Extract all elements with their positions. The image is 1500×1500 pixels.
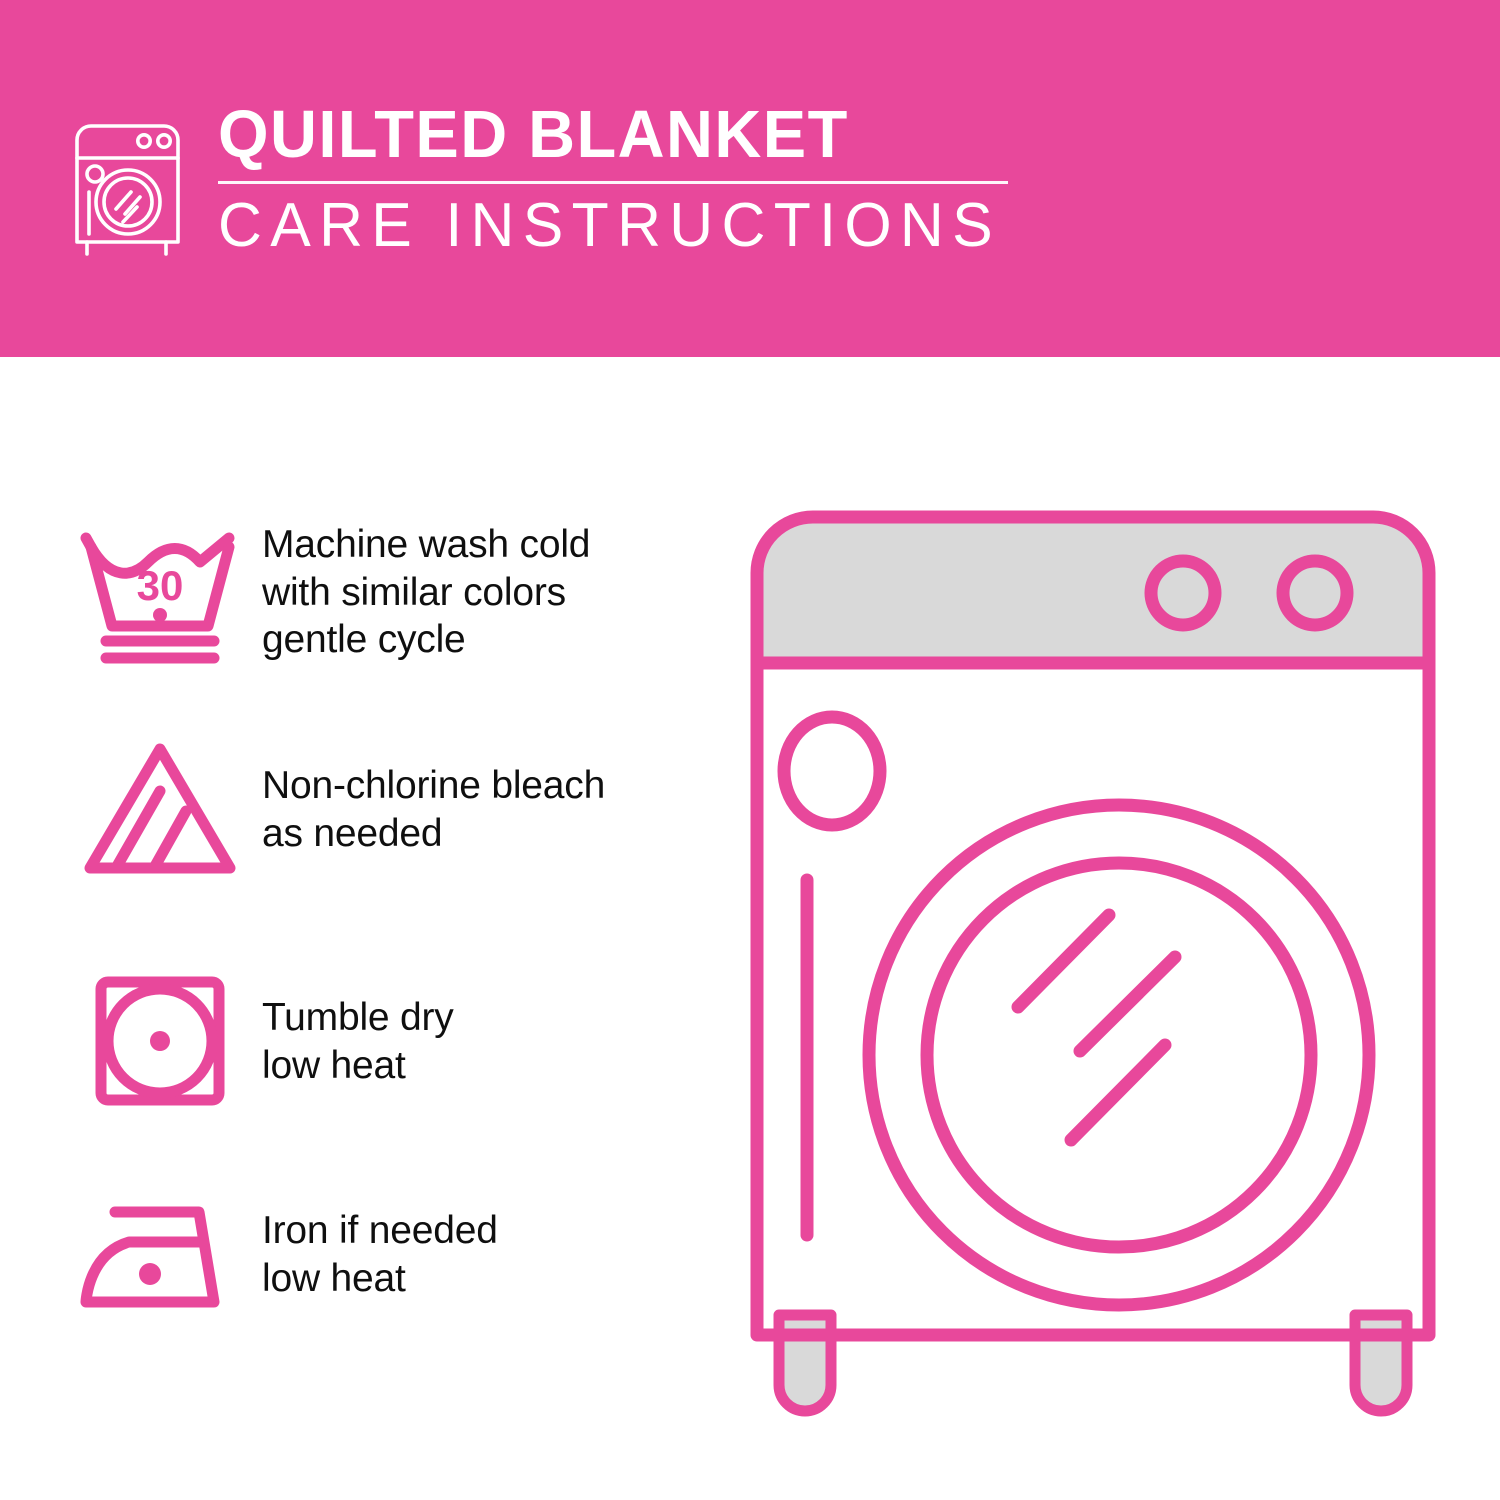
care-item-text: Tumble dry low heat (262, 994, 454, 1089)
care-item-text: Machine wash cold with similar colors ge… (262, 521, 590, 664)
care-item-machine-wash: 30 Machine wash cold with similar colors… (70, 505, 710, 680)
care-text-line: low heat (262, 1255, 498, 1303)
washer-control-panel (757, 517, 1429, 663)
non-chlorine-bleach-triangle-icon (74, 735, 246, 885)
care-text-line: Machine wash cold (262, 521, 590, 569)
care-text-line: as needed (262, 810, 605, 858)
washer-door-stripes (1018, 915, 1175, 1140)
washer-dispenser-icon (784, 717, 880, 825)
iron-low-heat-icon (74, 1190, 246, 1320)
washing-machine-icon (65, 110, 190, 270)
care-item-bleach: Non-chlorine bleach as needed (70, 727, 710, 892)
care-text-line: Tumble dry (262, 994, 454, 1042)
washer-door-inner-ring (927, 863, 1311, 1247)
care-symbol-slot (70, 735, 250, 885)
care-symbol-slot: 30 (70, 518, 250, 668)
tumble-dry-low-icon (74, 967, 246, 1117)
care-text-line: gentle cycle (262, 616, 590, 664)
wash-temperature-label: 30 (137, 562, 184, 609)
care-text-line: with similar colors (262, 569, 590, 617)
header-content: QUILTED BLANKET CARE INSTRUCTIONS (65, 100, 1017, 270)
care-instructions-infographic: QUILTED BLANKET CARE INSTRUCTIONS (0, 0, 1500, 1500)
title-divider (218, 181, 1008, 184)
header-title-group: QUILTED BLANKET CARE INSTRUCTIONS (218, 100, 1017, 258)
care-symbol-slot (70, 967, 250, 1117)
care-text-line: low heat (262, 1042, 454, 1090)
care-text-line: Non-chlorine bleach (262, 762, 605, 810)
page-subtitle: CARE INSTRUCTIONS (218, 193, 1001, 258)
care-text-line: Iron if needed (262, 1207, 498, 1255)
front-load-washing-machine-illustration (735, 495, 1455, 1425)
care-item-text: Non-chlorine bleach as needed (262, 762, 605, 857)
page-title: QUILTED BLANKET (218, 100, 993, 170)
wash-tub-30-gentle-icon: 30 (74, 518, 246, 668)
header-banner: QUILTED BLANKET CARE INSTRUCTIONS (0, 0, 1500, 357)
washer-door-outer-ring (869, 805, 1369, 1305)
care-symbol-slot (70, 1190, 250, 1320)
care-item-tumble-dry: Tumble dry low heat (70, 967, 710, 1117)
care-item-text: Iron if needed low heat (262, 1207, 498, 1302)
care-item-iron: Iron if needed low heat (70, 1185, 710, 1325)
